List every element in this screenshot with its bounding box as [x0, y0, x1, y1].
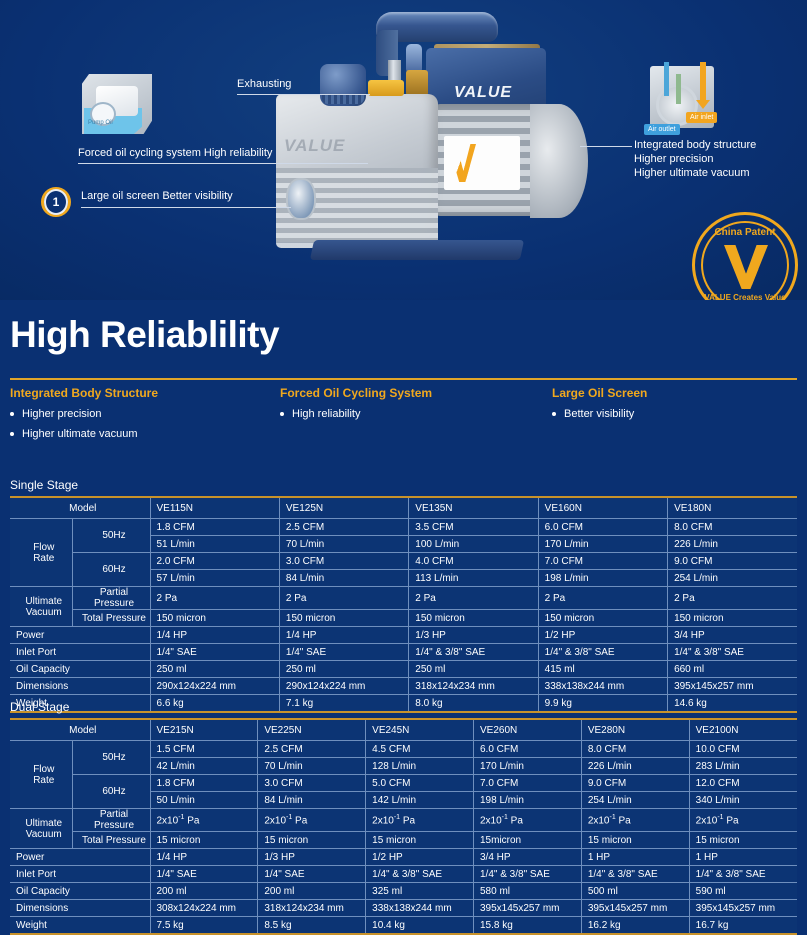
table-header-row: ModelVE115NVE125NVE135NVE160NVE180N	[10, 497, 797, 519]
dual-stage-section: Dual Stage ModelVE215NVE225NVE245NVE260N…	[10, 700, 797, 935]
spec-value-cell: 2 Pa	[668, 587, 797, 610]
spec-value-cell: 250 ml	[279, 661, 408, 678]
callout-integrated-body-line-3: Higher ultimate vacuum	[634, 167, 750, 179]
group-label-flow-rate: FlowRate	[10, 741, 72, 809]
spec-value-cell: 42 L/min	[150, 758, 258, 775]
forced-oil-cutaway-thumbnail: Pump Oil	[78, 68, 160, 140]
spec-value-cell: 290x124x224 mm	[150, 678, 279, 695]
model-header-cell: Model	[10, 719, 150, 741]
spec-value-cell: 8.5 kg	[258, 917, 366, 935]
spec-value-cell: 1/3 HP	[409, 627, 538, 644]
feature-block-forced-oil: Forced Oil Cycling System High reliabili…	[280, 386, 432, 428]
feature-block-integrated-body: Integrated Body Structure Higher precisi…	[10, 386, 158, 448]
feature-bullet-list: Higher precision Higher ultimate vacuum	[10, 408, 158, 440]
spec-value-cell: 200 ml	[258, 883, 366, 900]
spec-value-cell: 395x145x257 mm	[473, 900, 581, 917]
spec-value-cell: 1 HP	[689, 849, 797, 866]
table-row: FlowRate50Hz1.8 CFM2.5 CFM3.5 CFM6.0 CFM…	[10, 519, 797, 536]
spec-value-cell: 2x10-1 Pa	[689, 809, 797, 832]
callout-integrated-body-line-2: Higher precision	[634, 153, 713, 165]
callout-exhausting-label: Exhausting	[237, 78, 291, 90]
spec-value-cell: 1/3 HP	[258, 849, 366, 866]
spec-value-cell: 51 L/min	[150, 536, 279, 553]
table-row: Dimensions290x124x224 mm290x124x224 mm31…	[10, 678, 797, 695]
sub-label-partial-pressure: Partial Pressure	[72, 809, 150, 832]
spec-value-cell: 2x10-1 Pa	[366, 809, 474, 832]
spec-value-cell: 15 micron	[150, 832, 258, 849]
feature-bullet: High reliability	[280, 408, 432, 420]
spec-value-cell: 7.0 CFM	[473, 775, 581, 792]
table-row: 60Hz1.8 CFM3.0 CFM5.0 CFM7.0 CFM9.0 CFM1…	[10, 775, 797, 792]
callout-integrated-body-leader	[580, 146, 632, 147]
table-row: Power1/4 HP1/4 HP1/3 HP1/2 HP3/4 HP	[10, 627, 797, 644]
spec-value-cell: 318x124x234 mm	[409, 678, 538, 695]
spec-value-cell: 170 L/min	[538, 536, 667, 553]
brass-fitting	[406, 70, 428, 96]
spec-value-cell: 8.0 CFM	[668, 519, 797, 536]
spec-value-cell: 2x10-1 Pa	[150, 809, 258, 832]
model-name-cell: VE225N	[258, 719, 366, 741]
spec-value-cell: 15 micron	[258, 832, 366, 849]
spec-value-cell: 142 L/min	[366, 792, 474, 809]
spec-value-cell: 15 micron	[366, 832, 474, 849]
spec-value-cell: 2 Pa	[279, 587, 408, 610]
row-label-cell: Inlet Port	[10, 644, 150, 661]
callout-forced-oil-leader	[78, 163, 368, 164]
spec-value-cell: 150 micron	[150, 610, 279, 627]
spec-value-cell: 8.0 CFM	[581, 741, 689, 758]
spec-value-cell: 590 ml	[689, 883, 797, 900]
air-inlet-arrow-icon	[700, 62, 706, 102]
row-label-cell: Dimensions	[10, 678, 150, 695]
spec-value-cell: 660 ml	[668, 661, 797, 678]
model-name-cell: VE280N	[581, 719, 689, 741]
feature-block-large-screen: Large Oil Screen Better visibility	[552, 386, 647, 428]
row-label-cell: Power	[10, 849, 150, 866]
spec-value-cell: 128 L/min	[366, 758, 474, 775]
model-name-cell: VE125N	[279, 497, 408, 519]
row-label-cell: Weight	[10, 917, 150, 935]
spec-value-cell: 3/4 HP	[668, 627, 797, 644]
spec-value-cell: 1/4" SAE	[279, 644, 408, 661]
group-label-flow-rate: FlowRate	[10, 519, 72, 587]
sub-label-partial-pressure: Partial Pressure	[72, 587, 150, 610]
spec-value-cell: 2x10-1 Pa	[258, 809, 366, 832]
seal-bottom-arc-text: VALUE Creates Value	[695, 293, 795, 300]
sub-label-total-pressure: Total Pressure	[72, 832, 150, 849]
spec-value-cell: 1/4" & 3/8" SAE	[581, 866, 689, 883]
spec-value-cell: 15micron	[473, 832, 581, 849]
spec-value-cell: 340 L/min	[689, 792, 797, 809]
spec-value-cell: 338x138x244 mm	[366, 900, 474, 917]
spec-value-cell: 250 ml	[409, 661, 538, 678]
product-photo-vacuum-pump: VALUE VALUE	[258, 8, 588, 290]
callout-large-oil-screen-leader	[81, 207, 291, 208]
spec-value-cell: 16.7 kg	[689, 917, 797, 935]
spec-value-cell: 100 L/min	[409, 536, 538, 553]
dual-stage-title: Dual Stage	[10, 700, 797, 714]
single-stage-section: Single Stage ModelVE115NVE125NVE135NVE16…	[10, 478, 797, 713]
callout-large-oil-screen-label: Large oil screen Better visibility	[81, 190, 233, 202]
title-divider	[10, 378, 797, 380]
feature-bullet: Higher ultimate vacuum	[10, 428, 158, 440]
spec-value-cell: 1/4" & 3/8" SAE	[366, 866, 474, 883]
callout-number-badge-value: 1	[44, 189, 68, 215]
spec-value-cell: 395x145x257 mm	[689, 900, 797, 917]
spec-value-cell: 6.0 CFM	[473, 741, 581, 758]
single-stage-title: Single Stage	[10, 478, 797, 492]
spec-value-cell: 5.0 CFM	[366, 775, 474, 792]
table-row: UltimateVacuumPartial Pressure2x10-1 Pa2…	[10, 809, 797, 832]
spec-value-cell: 50 L/min	[150, 792, 258, 809]
spec-value-cell: 1/4" SAE	[150, 866, 258, 883]
pump-oil-label: Pump Oil	[88, 120, 113, 126]
oil-fill-cap	[320, 64, 366, 106]
spec-value-cell: 1/4" & 3/8" SAE	[668, 644, 797, 661]
spec-value-cell: 2.5 CFM	[279, 519, 408, 536]
air-outlet-arrow-icon	[664, 62, 669, 96]
integrated-body-thumbnail: Air inlet Air outlet	[640, 62, 726, 140]
spec-value-cell: 254 L/min	[668, 570, 797, 587]
spec-value-cell: 2 Pa	[150, 587, 279, 610]
group-label-ultimate-vacuum: UltimateVacuum	[10, 587, 72, 627]
spec-value-cell: 1/4 HP	[150, 627, 279, 644]
spec-value-cell: 1.8 CFM	[150, 519, 279, 536]
callout-forced-oil-label: Forced oil cycling system High reliabili…	[78, 147, 272, 159]
pump-base-plate	[310, 240, 524, 260]
feature-bullet-list: Better visibility	[552, 408, 647, 420]
table-row: Power1/4 HP1/3 HP1/2 HP3/4 HP1 HP1 HP	[10, 849, 797, 866]
air-outlet-badge: Air outlet	[644, 124, 680, 135]
spec-value-cell: 1/4" & 3/8" SAE	[538, 644, 667, 661]
sub-label-50hz: 50Hz	[72, 519, 150, 553]
oil-path-arrow-icon	[676, 74, 681, 104]
spec-value-cell: 10.0 CFM	[689, 741, 797, 758]
model-header-cell: Model	[10, 497, 150, 519]
feature-bullet-list: High reliability	[280, 408, 432, 420]
spec-value-cell: 2x10-1 Pa	[581, 809, 689, 832]
spec-value-cell: 338x138x244 mm	[538, 678, 667, 695]
spec-value-cell: 6.0 CFM	[538, 519, 667, 536]
spec-value-cell: 15 micron	[581, 832, 689, 849]
spec-value-cell: 4.0 CFM	[409, 553, 538, 570]
sub-label-60hz: 60Hz	[72, 553, 150, 587]
spec-value-cell: 3.5 CFM	[409, 519, 538, 536]
oil-sight-glass	[286, 178, 316, 220]
table-row: FlowRate50Hz1.5 CFM2.5 CFM4.5 CFM6.0 CFM…	[10, 741, 797, 758]
row-label-cell: Oil Capacity	[10, 883, 150, 900]
spec-value-cell: 308x124x224 mm	[150, 900, 258, 917]
page-title: High Reliablility	[10, 314, 279, 356]
spec-value-cell: 1/4 HP	[279, 627, 408, 644]
spec-value-cell: 3/4 HP	[473, 849, 581, 866]
table-header-row: ModelVE215NVE225NVE245NVE260NVE280NVE210…	[10, 719, 797, 741]
china-patent-seal: China Patent VALUE Creates Value	[692, 212, 798, 300]
table-row: Inlet Port1/4" SAE1/4" SAE1/4" & 3/8" SA…	[10, 866, 797, 883]
hero-banner: VALUE VALUE Pump Oil Air inlet Air outle…	[0, 0, 807, 300]
spec-value-cell: 1/2 HP	[366, 849, 474, 866]
spec-value-cell: 150 micron	[409, 610, 538, 627]
spec-value-cell: 12.0 CFM	[689, 775, 797, 792]
spec-value-cell: 3.0 CFM	[258, 775, 366, 792]
table-row: 60Hz2.0 CFM3.0 CFM4.0 CFM7.0 CFM9.0 CFM	[10, 553, 797, 570]
spec-value-cell: 57 L/min	[150, 570, 279, 587]
spec-value-cell: 1/4 HP	[150, 849, 258, 866]
spec-value-cell: 290x124x224 mm	[279, 678, 408, 695]
spec-value-cell: 198 L/min	[473, 792, 581, 809]
table-row: Weight7.5 kg8.5 kg10.4 kg15.8 kg16.2 kg1…	[10, 917, 797, 935]
table-row: Oil Capacity200 ml200 ml325 ml580 ml500 …	[10, 883, 797, 900]
spec-value-cell: 395x145x257 mm	[581, 900, 689, 917]
spec-value-cell: 1/4" & 3/8" SAE	[473, 866, 581, 883]
spec-value-cell: 70 L/min	[258, 758, 366, 775]
row-label-cell: Oil Capacity	[10, 661, 150, 678]
air-inlet-badge: Air inlet	[686, 112, 717, 123]
callout-exhausting-leader	[237, 94, 370, 95]
spec-value-cell: 150 micron	[279, 610, 408, 627]
model-name-cell: VE135N	[409, 497, 538, 519]
spec-value-cell: 580 ml	[473, 883, 581, 900]
callout-integrated-body-line-1: Integrated body structure	[634, 139, 756, 151]
single-stage-spec-table: ModelVE115NVE125NVE135NVE160NVE180NFlowR…	[10, 496, 797, 713]
spec-value-cell: 3.0 CFM	[279, 553, 408, 570]
spec-value-cell: 1.8 CFM	[150, 775, 258, 792]
sub-label-50hz: 50Hz	[72, 741, 150, 775]
sub-label-total-pressure: Total Pressure	[72, 610, 150, 627]
group-label-ultimate-vacuum: UltimateVacuum	[10, 809, 72, 849]
spec-value-cell: 200 ml	[150, 883, 258, 900]
spec-value-cell: 15 micron	[689, 832, 797, 849]
model-name-cell: VE2100N	[689, 719, 797, 741]
spec-value-cell: 318x124x234 mm	[258, 900, 366, 917]
table-row: Inlet Port1/4" SAE1/4" SAE1/4" & 3/8" SA…	[10, 644, 797, 661]
spec-value-cell: 500 ml	[581, 883, 689, 900]
model-name-cell: VE180N	[668, 497, 797, 519]
spec-value-cell: 4.5 CFM	[366, 741, 474, 758]
row-label-cell: Power	[10, 627, 150, 644]
motor-end-cap	[530, 104, 588, 218]
spec-value-cell: 226 L/min	[668, 536, 797, 553]
spec-value-cell: 1/2 HP	[538, 627, 667, 644]
spec-value-cell: 170 L/min	[473, 758, 581, 775]
spec-value-cell: 1/4" SAE	[258, 866, 366, 883]
table-row: Oil Capacity250 ml250 ml250 ml415 ml660 …	[10, 661, 797, 678]
spec-value-cell: 325 ml	[366, 883, 474, 900]
spec-value-cell: 2x10-1 Pa	[473, 809, 581, 832]
spec-value-cell: 1.5 CFM	[150, 741, 258, 758]
spec-value-cell: 70 L/min	[279, 536, 408, 553]
feature-bullet: Higher precision	[10, 408, 158, 420]
table-row: UltimateVacuumPartial Pressure2 Pa2 Pa2 …	[10, 587, 797, 610]
spec-value-cell: 15.8 kg	[473, 917, 581, 935]
model-name-cell: VE160N	[538, 497, 667, 519]
row-label-cell: Inlet Port	[10, 866, 150, 883]
table-row: Total Pressure150 micron150 micron150 mi…	[10, 610, 797, 627]
spec-value-cell: 1/4" & 3/8" SAE	[409, 644, 538, 661]
row-label-cell: Dimensions	[10, 900, 150, 917]
feature-title: Large Oil Screen	[552, 386, 647, 400]
spec-value-cell: 2.0 CFM	[150, 553, 279, 570]
model-name-cell: VE215N	[150, 719, 258, 741]
spec-value-cell: 1/4" & 3/8" SAE	[689, 866, 797, 883]
pump-brand-text: VALUE	[454, 84, 512, 102]
feature-title: Integrated Body Structure	[10, 386, 158, 400]
spec-value-cell: 16.2 kg	[581, 917, 689, 935]
spec-value-cell: 198 L/min	[538, 570, 667, 587]
spec-value-cell: 84 L/min	[279, 570, 408, 587]
spec-value-cell: 2 Pa	[538, 587, 667, 610]
spec-value-cell: 113 L/min	[409, 570, 538, 587]
spec-value-cell: 84 L/min	[258, 792, 366, 809]
spec-label-sticker	[444, 136, 520, 190]
spec-value-cell: 226 L/min	[581, 758, 689, 775]
spec-value-cell: 1 HP	[581, 849, 689, 866]
spec-value-cell: 254 L/min	[581, 792, 689, 809]
callout-number-badge: 1	[41, 187, 71, 217]
spec-value-cell: 2.5 CFM	[258, 741, 366, 758]
sub-label-60hz: 60Hz	[72, 775, 150, 809]
spec-value-cell: 250 ml	[150, 661, 279, 678]
spec-value-cell: 10.4 kg	[366, 917, 474, 935]
table-row: Total Pressure15 micron15 micron15 micro…	[10, 832, 797, 849]
spec-value-cell: 2 Pa	[409, 587, 538, 610]
spec-value-cell: 9.0 CFM	[581, 775, 689, 792]
feature-title: Forced Oil Cycling System	[280, 386, 432, 400]
spec-value-cell: 7.0 CFM	[538, 553, 667, 570]
spec-value-cell: 1/4" SAE	[150, 644, 279, 661]
yellow-exhaust-cap	[368, 80, 404, 96]
spec-value-cell: 150 micron	[668, 610, 797, 627]
pump-body-embossed-logo: VALUE	[284, 136, 345, 156]
spec-value-cell: 395x145x257 mm	[668, 678, 797, 695]
spec-value-cell: 9.0 CFM	[668, 553, 797, 570]
spec-value-cell: 7.5 kg	[150, 917, 258, 935]
spec-value-cell: 150 micron	[538, 610, 667, 627]
feature-bullet: Better visibility	[552, 408, 647, 420]
spec-value-cell: 415 ml	[538, 661, 667, 678]
model-name-cell: VE115N	[150, 497, 279, 519]
table-row: Dimensions308x124x224 mm318x124x234 mm33…	[10, 900, 797, 917]
dual-stage-spec-table: ModelVE215NVE225NVE245NVE260NVE280NVE210…	[10, 718, 797, 935]
model-name-cell: VE260N	[473, 719, 581, 741]
model-name-cell: VE245N	[366, 719, 474, 741]
spec-value-cell: 283 L/min	[689, 758, 797, 775]
seal-top-arc-text: China Patent	[695, 227, 795, 238]
